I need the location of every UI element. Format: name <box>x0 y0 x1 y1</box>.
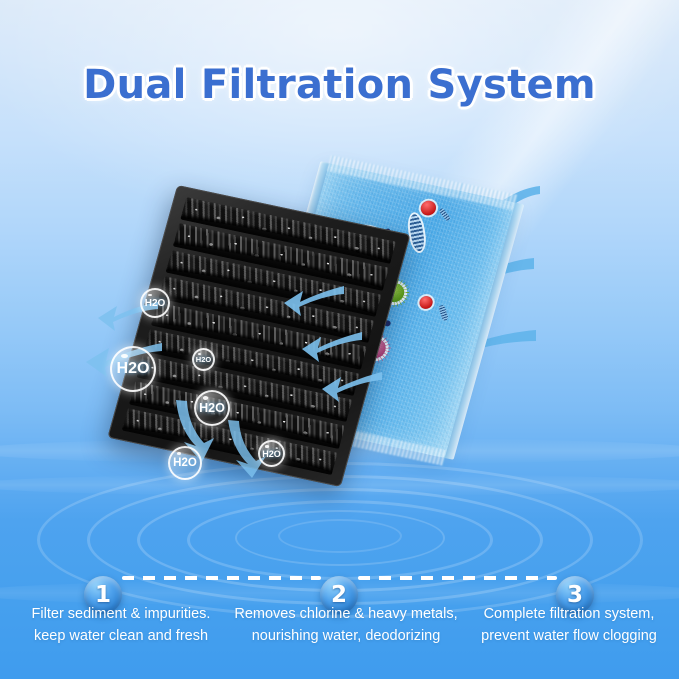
h2o-bubble-label: H2O <box>199 401 225 415</box>
step-text-2-line2: nourishing water, deodorizing <box>228 625 464 647</box>
h2o-bubble: H2O <box>192 348 215 371</box>
h2o-bubble-label: H2O <box>173 457 197 469</box>
step-text-2-line1: Removes chlorine & heavy metals, <box>228 603 464 625</box>
bacteria-rod-icon <box>439 208 451 222</box>
steps-section: 1 2 3 Filter sediment & impurities. keep… <box>0 555 679 679</box>
h2o-bubble-label: H2O <box>262 449 281 459</box>
h2o-bubble-label: H2O <box>145 298 166 309</box>
step-text-3-line1: Complete filtration system, <box>462 603 676 625</box>
h2o-bubble: H2O <box>110 346 156 392</box>
particle-red-icon <box>419 199 438 217</box>
product-infographic: Dual Filtration System <box>0 0 679 679</box>
step-text-1: Filter sediment & impurities. keep water… <box>10 603 232 648</box>
particle-red-icon <box>418 295 434 310</box>
h2o-bubble: H2O <box>258 440 285 467</box>
transfer-arrow-2 <box>302 328 364 370</box>
transfer-arrow-3 <box>322 368 384 410</box>
step-text-1-line2: keep water clean and fresh <box>10 625 232 647</box>
step-text-3-line2: prevent water flow clogging <box>462 625 676 647</box>
step-text-1-line1: Filter sediment & impurities. <box>10 603 232 625</box>
transfer-arrow-1 <box>284 282 346 324</box>
h2o-bubble-label: H2O <box>196 355 211 364</box>
step-connector-2 <box>358 576 557 580</box>
h2o-bubble: H2O <box>168 446 202 480</box>
step-text-3: Complete filtration system, prevent wate… <box>462 603 676 648</box>
h2o-bubble-label: H2O <box>117 360 150 378</box>
bacteria-rod-icon <box>438 304 449 321</box>
step-connector-1 <box>122 576 321 580</box>
h2o-bubble: H2O <box>194 390 230 426</box>
bacteria-rod-icon <box>408 213 426 252</box>
h2o-bubble: H2O <box>140 288 170 318</box>
step-text-2: Removes chlorine & heavy metals, nourish… <box>228 603 464 648</box>
